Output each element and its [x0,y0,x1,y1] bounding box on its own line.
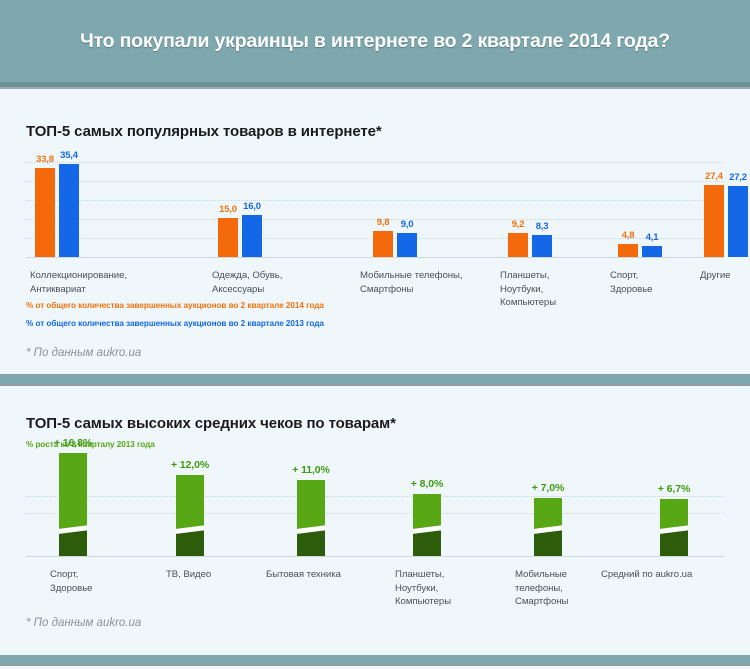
category-label: Мобильныетелефоны,Смартфоны [515,568,568,609]
bar-growth [534,498,562,556]
axis-baseline [26,257,724,258]
panel-popular-products: ТОП-5 самых популярных товаров в интерне… [0,89,750,374]
chart-popular-products: 33,835,4Коллекционирование,Антиквариат15… [26,152,724,257]
bar-growth-base [59,530,87,556]
bar-growth-base [534,530,562,556]
axis-baseline [26,556,724,557]
chart-average-checks: + 16,8%Спорт,Здоровье+ 12,0%ТВ, Видео+ 1… [26,474,724,556]
bar-value-growth: + 6,7% [639,483,709,495]
bar-value-growth: + 7,0% [513,482,583,494]
bar-growth [413,494,441,556]
bar-growth [297,480,325,556]
bar-value-growth: + 16,8% [38,437,108,449]
bar-2014 [35,168,55,257]
bar-2014 [508,233,528,257]
bar-value-2013: 8,3 [522,221,562,232]
bar-2013 [397,233,417,257]
page-title: Что покупали украинцы в интернете во 2 к… [0,30,750,53]
bar-growth-base [660,530,688,556]
footnote-top: * По данным aukro.ua [26,347,141,359]
footnote-bottom: * По данным aukro.ua [26,617,141,629]
bar-value-2013: 27,2 [718,172,750,183]
category-label: Планшеты,Ноутбуки,Компьютеры [500,269,556,310]
gridline [26,496,724,497]
bar-growth [660,499,688,556]
category-label: Средний по aukro.ua [601,568,692,582]
category-label: Коллекционирование,Антиквариат [30,269,127,296]
gridline [26,162,724,163]
category-label: ТВ, Видео [166,568,211,582]
category-label: Планшеты,Ноутбуки,Компьютеры [395,568,451,609]
panel-divider [0,374,750,386]
bar-value-growth: + 8,0% [392,478,462,490]
bar-2013 [728,186,748,257]
bar-growth-base [297,530,325,556]
bar-value-2013: 35,4 [49,150,89,161]
category-label: Бытовая техника [266,568,341,582]
bar-2014 [218,218,238,257]
panel-average-checks: ТОП-5 самых высоких средних чеков по тов… [0,392,750,669]
category-label: Мобильные телефоны,Смартфоны [360,269,462,296]
bar-2013 [642,246,662,257]
bar-2014 [618,244,638,257]
bottom-rule [0,655,750,666]
bar-2013 [59,164,79,257]
gridline [26,513,724,514]
bar-2013 [242,215,262,257]
section-title-top: ТОП-5 самых популярных товаров в интерне… [26,123,382,140]
legend-item-2013: % от общего количества завершенных аукци… [26,319,324,328]
category-label: Другие [700,269,730,283]
category-label: Спорт,Здоровье [50,568,92,595]
header-rule [0,82,750,89]
bar-growth-base [176,530,204,556]
bar-value-growth: + 12,0% [155,459,225,471]
bar-2014 [373,231,393,257]
bar-value-growth: + 11,0% [276,464,346,476]
gridline [26,200,724,201]
bar-growth [59,453,87,556]
gridline [26,181,724,182]
bar-value-2013: 4,1 [632,232,672,243]
legend-item-2014: % от общего количества завершенных аукци… [26,301,324,310]
bar-2014 [704,185,724,257]
bar-2013 [532,235,552,257]
category-label: Спорт,Здоровье [610,269,652,296]
infographic-root: Что покупали украинцы в интернете во 2 к… [0,0,750,669]
bar-value-2013: 9,0 [387,219,427,230]
section-title-bottom: ТОП-5 самых высоких средних чеков по тов… [26,415,396,432]
bar-value-2013: 16,0 [232,201,272,212]
bar-growth [176,475,204,556]
bar-growth-base [413,530,441,556]
category-label: Одежда, Обувь,Аксессуары [212,269,282,296]
